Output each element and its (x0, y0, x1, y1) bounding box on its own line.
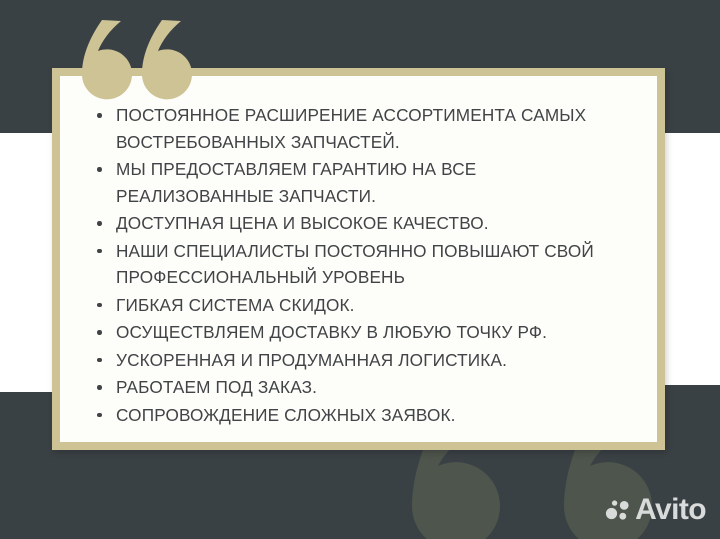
benefits-list: Постоянное расширение ассортимента самых… (90, 102, 627, 429)
avito-brand-label: Avito (635, 495, 706, 525)
quote-card-surface: Постоянное расширение ассортимента самых… (60, 76, 657, 442)
list-item: Постоянное расширение ассортимента самых… (90, 102, 627, 155)
list-item: Доступная цена и высокое качество. (90, 210, 627, 237)
quote-card: Постоянное расширение ассортимента самых… (52, 68, 665, 450)
image-canvas: Постоянное расширение ассортимента самых… (0, 0, 720, 539)
list-item: Наши специалисты постоянно повышают свой… (90, 238, 627, 291)
list-item: Мы предоставляем гарантию на все реализо… (90, 156, 627, 209)
list-item: Осуществляем доставку в любую точку РФ. (90, 319, 627, 346)
avito-watermark: Avito (605, 495, 706, 525)
list-item: Гибкая система скидок. (90, 292, 627, 319)
avito-dots-icon (605, 498, 629, 522)
list-item: Ускоренная и продуманная логистика. (90, 347, 627, 374)
list-item: Сопровождение сложных заявок. (90, 402, 627, 429)
list-item: Работаем под заказ. (90, 374, 627, 401)
